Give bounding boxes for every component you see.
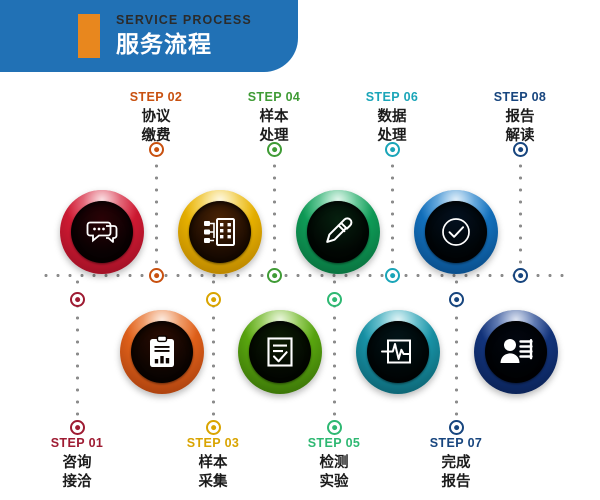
timeline-horizontal-connector xyxy=(40,274,564,277)
step05-title: 检测 实验 xyxy=(279,454,389,492)
step-label-step01[interactable]: STEP 01 咨询 接洽 xyxy=(22,436,132,492)
step02-title: 协议 缴费 xyxy=(101,108,211,146)
node-center-dot xyxy=(518,273,524,279)
step-label-step02[interactable]: STEP 02 协议 缴费 xyxy=(101,90,211,146)
node-center-dot xyxy=(390,273,396,279)
step-label-step07[interactable]: STEP 07 完成 报告 xyxy=(401,436,511,492)
step-label-step05[interactable]: STEP 05 检测 实验 xyxy=(279,436,389,492)
step02-title-line1: 协议 xyxy=(101,108,211,127)
node-center-dot xyxy=(332,425,338,431)
orb-step06-document-check[interactable] xyxy=(238,310,322,394)
node-step01-label[interactable] xyxy=(70,420,85,435)
step03-title: 样本 采集 xyxy=(158,454,268,492)
connector-vertical-step08 xyxy=(519,148,522,276)
step06-number: STEP 06 xyxy=(337,90,447,105)
node-step07-spine[interactable] xyxy=(449,292,464,307)
node-center-dot xyxy=(154,273,160,279)
monitor-pulse-icon xyxy=(381,337,415,367)
header-text-group: SERVICE PROCESS 服务流程 xyxy=(116,14,252,59)
step-label-step04[interactable]: STEP 04 样本 处理 xyxy=(219,90,329,146)
step05-number: STEP 05 xyxy=(279,436,389,451)
step05-title-line1: 检测 xyxy=(279,454,389,473)
check-circle-icon xyxy=(439,215,473,249)
header-english-title: SERVICE PROCESS xyxy=(116,14,252,28)
node-center-dot xyxy=(272,273,278,279)
node-center-dot xyxy=(154,147,160,153)
node-center-dot xyxy=(518,147,524,153)
node-step03-label[interactable] xyxy=(206,420,221,435)
speech-bubbles-icon xyxy=(85,217,119,247)
step08-title: 报告 解读 xyxy=(465,108,575,146)
step01-title-line2: 接洽 xyxy=(22,473,132,492)
node-center-dot xyxy=(211,297,217,303)
node-step04-spine[interactable] xyxy=(267,268,282,283)
step04-number: STEP 04 xyxy=(219,90,329,105)
step01-title: 咨询 接洽 xyxy=(22,454,132,492)
connector-vertical-step06 xyxy=(391,148,394,276)
node-step07-label[interactable] xyxy=(449,420,464,435)
step-label-step06[interactable]: STEP 06 数据 处理 xyxy=(337,90,447,146)
step07-title-line2: 报告 xyxy=(401,473,511,492)
step08-number: STEP 08 xyxy=(465,90,575,105)
orb-step08-person-report[interactable] xyxy=(474,310,558,394)
step03-title-line1: 样本 xyxy=(158,454,268,473)
node-center-dot xyxy=(272,147,278,153)
step04-title: 样本 处理 xyxy=(219,108,329,146)
step07-number: STEP 07 xyxy=(401,436,511,451)
node-center-dot xyxy=(211,425,217,431)
node-step02-spine[interactable] xyxy=(149,268,164,283)
connector-vertical-step04 xyxy=(273,148,276,276)
step03-title-line2: 采集 xyxy=(158,473,268,492)
orb-step05-clipboard-chart[interactable] xyxy=(120,310,204,394)
orb-step01-speech-bubbles[interactable] xyxy=(60,190,144,274)
step02-title-line2: 缴费 xyxy=(101,127,211,146)
node-center-dot xyxy=(454,425,460,431)
building-org-icon xyxy=(203,216,237,248)
orb-step03-dropper[interactable] xyxy=(296,190,380,274)
dropper-icon xyxy=(321,215,355,249)
header-banner: SERVICE PROCESS 服务流程 xyxy=(0,0,298,72)
step01-title-line1: 咨询 xyxy=(22,454,132,473)
step02-number: STEP 02 xyxy=(101,90,211,105)
step03-number: STEP 03 xyxy=(158,436,268,451)
node-center-dot xyxy=(390,147,396,153)
step04-title-line2: 处理 xyxy=(219,127,329,146)
step-label-step08[interactable]: STEP 08 报告 解读 xyxy=(465,90,575,146)
step06-title: 数据 处理 xyxy=(337,108,447,146)
node-step08-spine[interactable] xyxy=(513,268,528,283)
step08-title-line2: 解读 xyxy=(465,127,575,146)
node-step01-spine[interactable] xyxy=(70,292,85,307)
orb-step07-monitor-pulse[interactable] xyxy=(356,310,440,394)
accent-bar-icon xyxy=(78,14,100,58)
node-center-dot xyxy=(454,297,460,303)
document-check-icon xyxy=(265,336,295,368)
step07-title: 完成 报告 xyxy=(401,454,511,492)
step07-title-line1: 完成 xyxy=(401,454,511,473)
clipboard-chart-icon xyxy=(147,335,177,369)
person-report-icon xyxy=(499,336,533,368)
orb-step02-building-org[interactable] xyxy=(178,190,262,274)
node-step06-spine[interactable] xyxy=(385,268,400,283)
step01-number: STEP 01 xyxy=(22,436,132,451)
step06-title-line1: 数据 xyxy=(337,108,447,127)
node-center-dot xyxy=(75,297,81,303)
infographic-canvas: SERVICE PROCESS 服务流程 STEP 02 协议 缴费 S xyxy=(0,0,600,500)
step06-title-line2: 处理 xyxy=(337,127,447,146)
connector-vertical-step02 xyxy=(155,148,158,276)
orb-step04-check-circle[interactable] xyxy=(414,190,498,274)
node-step03-spine[interactable] xyxy=(206,292,221,307)
step04-title-line1: 样本 xyxy=(219,108,329,127)
node-center-dot xyxy=(332,297,338,303)
step08-title-line1: 报告 xyxy=(465,108,575,127)
node-step05-spine[interactable] xyxy=(327,292,342,307)
header-chinese-title: 服务流程 xyxy=(116,30,252,59)
step-label-step03[interactable]: STEP 03 样本 采集 xyxy=(158,436,268,492)
node-center-dot xyxy=(75,425,81,431)
step05-title-line2: 实验 xyxy=(279,473,389,492)
node-step05-label[interactable] xyxy=(327,420,342,435)
